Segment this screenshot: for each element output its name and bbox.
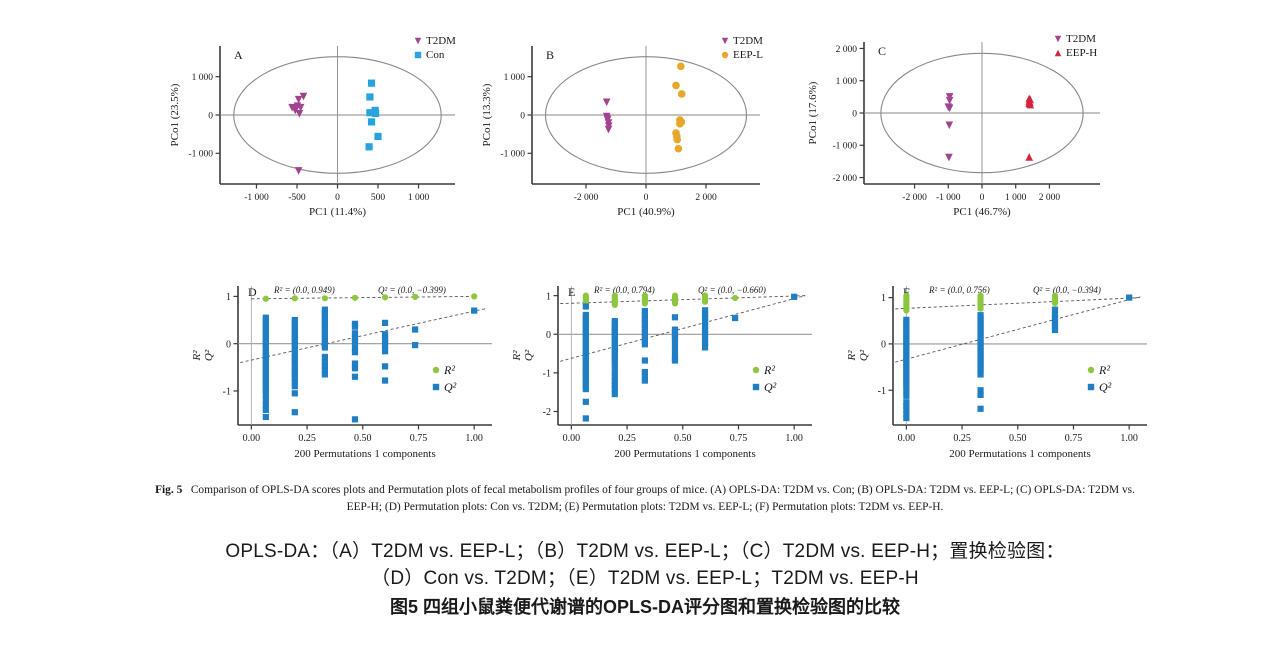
data-point [382, 294, 388, 300]
data-point [292, 295, 298, 301]
legend-marker-eep-l [722, 52, 728, 58]
x-tick-label: -1 000 [936, 193, 961, 203]
data-point [583, 399, 589, 405]
legend-label-r2: R² [443, 363, 455, 377]
x-tick-label: 0.00 [243, 433, 260, 444]
data-point [642, 357, 648, 363]
y-tick-label: 1 000 [192, 73, 214, 83]
legend-label-con: Con [426, 49, 445, 61]
y-tick-label: -2 [543, 407, 551, 418]
data-point [642, 300, 648, 306]
legend-label-t2dm: T2DM [426, 35, 456, 47]
data-point [374, 133, 381, 140]
legend-label-q2: Q² [444, 380, 457, 394]
data-point [903, 415, 909, 421]
y-tick-label: 1 000 [836, 77, 858, 87]
data-point [977, 406, 983, 412]
x-tick-label: 0.00 [898, 433, 916, 444]
panel-c-opls-da-t2dm-vs-eep-h: -2 000-1 00001 0002 0002 0001 0000-1 000… [790, 24, 1150, 239]
data-point [471, 293, 477, 299]
data-point [612, 302, 618, 308]
x-tick-label: 0 [335, 193, 340, 203]
x-tick-label: -2 000 [902, 193, 927, 203]
panel-label: C [878, 44, 886, 58]
annotation-q2: Q² = (0.0, −0.660) [698, 285, 766, 295]
panel-a-opls-da-t2dm-vs-con: -1 000-50005001 0001 0000-1 000APC1 (11.… [160, 24, 510, 239]
x-tick-label: -2 000 [574, 193, 599, 203]
x-tick-label: 0.50 [1009, 433, 1027, 444]
data-point [292, 390, 298, 396]
x-axis-title: 200 Permutations 1 components [614, 448, 755, 460]
data-point [296, 110, 304, 118]
data-point [263, 407, 269, 413]
y-axis-title-r2: R² [846, 350, 858, 362]
data-point [732, 295, 738, 301]
data-point [672, 340, 678, 346]
data-point [977, 392, 983, 398]
legend-label-eep-l: EEP-L [733, 49, 763, 61]
data-point [583, 415, 589, 421]
data-point [702, 299, 708, 305]
x-axis-title: PC1 (11.4%) [309, 206, 366, 218]
x-tick-label: 1.00 [465, 433, 483, 444]
figure-5: -1 000-50005001 0001 0000-1 000APC1 (11.… [0, 0, 1288, 647]
plot-area-B: -2 00002 0001 0000-1 000BPC1 (40.9%)PCo1… [470, 24, 820, 239]
data-point [368, 118, 375, 125]
caption-cn-line-2: （D）Con vs. T2DM；（E）T2DM vs. EEP-L；T2DM v… [120, 565, 1170, 592]
data-point [903, 307, 909, 313]
y-axis-title-q2: Q² [523, 349, 535, 361]
panel-label: B [546, 48, 554, 62]
data-point [382, 363, 388, 369]
data-point [352, 365, 358, 371]
legend-marker-r2 [1088, 367, 1094, 373]
x-tick-label: 0.25 [298, 433, 316, 444]
y-tick-label: -2 000 [832, 174, 857, 184]
y-axis-title-q2: Q² [858, 349, 870, 361]
plot-area-D: 0.000.250.500.751.0010-1DR² = (0.0, 0.94… [180, 262, 530, 477]
data-point [945, 154, 953, 162]
legend-marker-con [415, 52, 421, 58]
x-tick-label: 2 000 [1039, 193, 1061, 203]
y-tick-label: 0 [520, 111, 525, 121]
x-axis-title: 200 Permutations 1 components [294, 448, 435, 460]
q2-regression-line [560, 296, 805, 362]
y-tick-label: -1 [878, 386, 886, 397]
figure-caption-english: Fig. 5 Comparison of OPLS-DA scores plot… [150, 482, 1140, 515]
data-point [977, 306, 983, 312]
data-point [295, 167, 303, 175]
y-axis-title-q2: Q² [203, 349, 215, 361]
data-point [605, 126, 613, 134]
legend-label-r2: R² [1098, 363, 1110, 377]
data-point [382, 320, 388, 326]
panel-b-opls-da-t2dm-vs-eep-l: -2 00002 0001 0000-1 000BPC1 (40.9%)PCo1… [470, 24, 820, 239]
legend-marker-t2dm [1055, 36, 1061, 42]
data-point [1052, 327, 1058, 333]
legend-marker-q2 [433, 384, 439, 390]
plot-area-E: 0.000.250.500.751.0010-1-2ER² = (0.0, 0.… [500, 262, 850, 477]
data-point [673, 136, 681, 144]
data-point [612, 391, 618, 397]
legend-label-t2dm: T2DM [733, 35, 763, 47]
annotation-r2: R² = (0.0, 0.949) [273, 285, 335, 295]
x-tick-label: 0.00 [563, 433, 581, 444]
plot-area-C: -2 000-1 00001 0002 0002 0001 0000-1 000… [790, 24, 1150, 239]
data-point [672, 357, 678, 363]
y-tick-label: -1 [543, 368, 551, 379]
data-point [1126, 294, 1132, 300]
data-point [352, 349, 358, 355]
data-point [382, 377, 388, 383]
x-axis-title: PC1 (40.9%) [617, 206, 675, 218]
data-point [322, 354, 328, 360]
legend-label-r2: R² [763, 363, 775, 377]
data-point [642, 341, 648, 347]
figure-caption-label: Fig. 5 [155, 484, 182, 496]
data-point [642, 377, 648, 383]
legend-label-t2dm: T2DM [1066, 33, 1096, 45]
data-point [322, 344, 328, 350]
series-eep-l [672, 63, 685, 153]
y-tick-label: 0 [881, 340, 886, 351]
data-point [263, 414, 269, 420]
plot-area-F: 0.000.250.500.751.0010-1FR² = (0.0, 0.75… [835, 262, 1185, 477]
x-tick-label: 0.75 [410, 433, 428, 444]
x-tick-label: 0.50 [354, 433, 372, 444]
data-point [352, 374, 358, 380]
x-tick-label: 0.25 [618, 433, 636, 444]
legend-marker-t2dm [722, 38, 728, 44]
r2-regression-line [251, 296, 474, 298]
data-point [672, 345, 678, 351]
series-t2dm [288, 93, 307, 175]
legend-label-eep-h: EEP-H [1066, 47, 1097, 59]
y-tick-label: -1 000 [832, 142, 857, 152]
y-tick-label: 0 [546, 330, 551, 341]
data-point [352, 338, 358, 344]
data-point [295, 96, 303, 104]
data-point [675, 145, 683, 153]
data-point [603, 99, 611, 107]
data-point [382, 342, 388, 348]
panel-f-permutation-t2dm-vs-eep-h: 0.000.250.500.751.0010-1FR² = (0.0, 0.75… [835, 262, 1185, 477]
x-tick-label: 1 000 [1005, 193, 1027, 203]
y-tick-label: -1 000 [500, 150, 525, 160]
data-point [366, 93, 373, 100]
data-point [732, 315, 738, 321]
y-tick-label: 2 000 [836, 45, 858, 55]
data-point [672, 300, 678, 306]
y-axis-title: PCo1 (23.5%) [169, 83, 181, 146]
series-t2dm [944, 93, 953, 161]
y-tick-label: -1 [223, 387, 231, 398]
y-tick-label: 1 [226, 292, 231, 303]
data-point [322, 371, 328, 377]
data-point [412, 294, 418, 300]
data-point [1052, 307, 1058, 313]
x-tick-label: 0.50 [674, 433, 692, 444]
data-point [672, 314, 678, 320]
legend-marker-t2dm [415, 38, 421, 44]
figure-caption-chinese-title: 图5 四组小鼠粪便代谢谱的OPLS-DA评分图和置换检验图的比较 [120, 593, 1170, 619]
legend-label-q2: Q² [1099, 380, 1112, 394]
data-point [676, 120, 684, 128]
panel-e-permutation-t2dm-vs-eep-l: 0.000.250.500.751.0010-1-2ER² = (0.0, 0.… [500, 262, 850, 477]
data-point [322, 295, 328, 301]
data-point [702, 344, 708, 350]
r2-regression-line [560, 296, 805, 304]
data-point [903, 393, 909, 399]
y-tick-label: 1 [881, 293, 886, 304]
data-point [352, 295, 358, 301]
caption-cn-line-1: OPLS-DA：（A）T2DM vs. EEP-L；（B）T2DM vs. EE… [120, 538, 1170, 565]
data-point [412, 342, 418, 348]
data-point [368, 80, 375, 87]
data-point [372, 110, 379, 117]
data-point [263, 396, 269, 402]
x-axis-title: PC1 (46.7%) [953, 206, 1011, 218]
legend-label-q2: Q² [764, 380, 777, 394]
data-point [677, 63, 685, 71]
series-t2dm [603, 99, 613, 134]
x-tick-label: 1.00 [1120, 433, 1138, 444]
y-tick-label: 1 000 [504, 73, 526, 83]
x-axis-title: 200 Permutations 1 components [949, 448, 1090, 460]
data-point [352, 324, 358, 330]
x-tick-label: 0.75 [730, 433, 748, 444]
y-axis-title-r2: R² [191, 350, 203, 362]
x-tick-label: 0.75 [1065, 433, 1083, 444]
panel-d-permutation-con-vs-t2dm: 0.000.250.500.751.0010-1DR² = (0.0, 0.94… [180, 262, 530, 477]
figure-caption-text: Comparison of OPLS-DA scores plots and P… [191, 484, 1135, 513]
data-point [352, 416, 358, 422]
y-tick-label: 0 [852, 109, 857, 119]
x-tick-label: 0.25 [953, 433, 971, 444]
legend-marker-r2 [753, 367, 759, 373]
x-tick-label: 1.00 [785, 433, 803, 444]
data-point [583, 386, 589, 392]
y-tick-label: -1 000 [188, 150, 213, 160]
data-point [612, 363, 618, 369]
legend-marker-r2 [433, 367, 439, 373]
x-tick-label: 0 [980, 193, 985, 203]
r2-regression-line [895, 298, 1140, 309]
data-point [292, 409, 298, 415]
data-point [366, 143, 373, 150]
y-tick-label: 0 [226, 339, 231, 350]
data-point [382, 348, 388, 354]
series-q2 [583, 294, 798, 422]
data-point [412, 326, 418, 332]
q2-regression-line [895, 297, 1140, 363]
data-point [791, 294, 797, 300]
scores-plots-row: -1 000-50005001 0001 0000-1 000APC1 (11.… [0, 24, 1288, 239]
figure-caption-chinese: OPLS-DA：（A）T2DM vs. EEP-L；（B）T2DM vs. EE… [120, 538, 1170, 592]
series-eep-h [1025, 95, 1034, 161]
legend-marker-eep-h [1055, 50, 1061, 56]
x-tick-label: 2 000 [695, 193, 717, 203]
series-q2 [903, 294, 1132, 421]
y-axis-title: PCo1 (13.3%) [481, 83, 493, 146]
legend-marker-q2 [1088, 384, 1094, 390]
data-point [977, 371, 983, 377]
data-point [263, 296, 269, 302]
q2-regression-line [240, 309, 485, 363]
x-tick-label: 500 [371, 193, 386, 203]
annotation-q2: Q² = (0.0, −0.394) [1033, 285, 1101, 295]
permutation-plots-row: 0.000.250.500.751.0010-1DR² = (0.0, 0.94… [0, 262, 1288, 477]
data-point [292, 383, 298, 389]
data-point [672, 82, 680, 90]
x-tick-label: -500 [288, 193, 306, 203]
x-tick-label: 0 [644, 193, 649, 203]
data-point [583, 303, 589, 309]
y-tick-label: 1 [546, 291, 551, 302]
legend-marker-q2 [753, 384, 759, 390]
data-point [678, 90, 686, 98]
y-axis-title-r2: R² [511, 350, 523, 362]
panel-label: D [248, 285, 257, 299]
data-point [471, 307, 477, 313]
data-point [1025, 153, 1033, 161]
x-tick-label: -1 000 [244, 193, 269, 203]
annotation-q2: Q² = (0.0, −0.399) [378, 285, 446, 295]
panel-label: A [234, 48, 243, 62]
y-tick-label: 0 [208, 111, 213, 121]
data-point [945, 121, 953, 129]
data-point [1052, 300, 1058, 306]
plot-area-A: -1 000-50005001 0001 0000-1 000APC1 (11.… [160, 24, 510, 239]
x-tick-label: 1 000 [408, 193, 430, 203]
y-axis-title: PCo1 (17.6%) [807, 81, 819, 144]
panel-label: E [568, 285, 575, 299]
